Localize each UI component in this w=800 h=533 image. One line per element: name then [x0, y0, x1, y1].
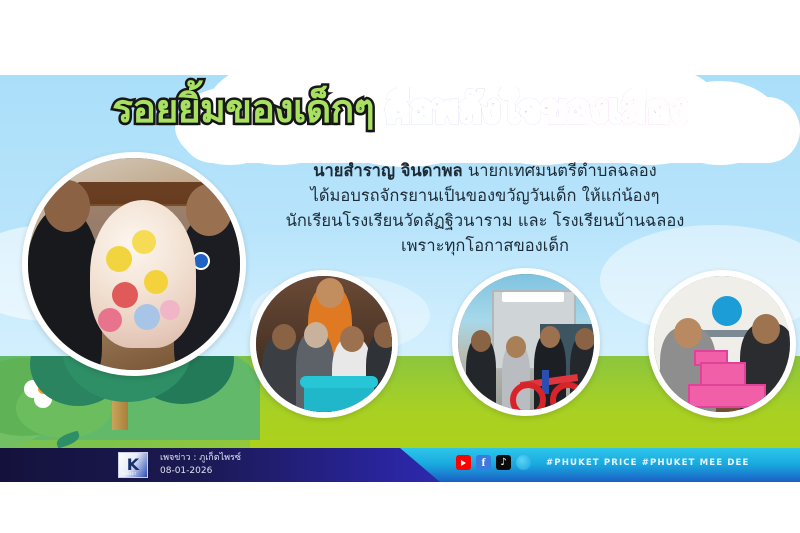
credit-label: เพจข่าว : ภูเก็ตไพรซ์: [160, 452, 241, 465]
footer-credit: เพจข่าว : ภูเก็ตไพรซ์ 08-01-2026: [160, 452, 241, 478]
person-head: [471, 330, 491, 352]
bicycle-group-photo: [452, 268, 600, 416]
hero-handover-photo: [22, 152, 246, 376]
poster-headline: รอยยิ้มของเด็กๆคือพลังใจของเมือง: [0, 90, 800, 129]
photo-content: [654, 276, 790, 412]
letterbox-bottom: [0, 482, 800, 533]
person-head: [506, 336, 526, 358]
pink-gifts-photo: [648, 270, 796, 418]
gift-item: [134, 304, 160, 330]
social-links: f ♪: [456, 455, 531, 470]
letterbox-top: [0, 0, 800, 75]
gift-item: [132, 230, 156, 254]
play-triangle: [461, 460, 466, 466]
headline-part-two: คือพลังใจของเมือง: [384, 87, 688, 132]
headline-part-one: รอยยิ้มของเด็กๆ: [112, 87, 374, 132]
gift-item: [98, 308, 122, 332]
body-line-3: นักเรียนโรงเรียนวัดลัฏฐิวนาราม และ โรงเร…: [170, 208, 800, 233]
person-left-head: [44, 180, 90, 232]
person-head: [540, 326, 560, 348]
gift-item: [144, 270, 168, 294]
photo-content: [28, 158, 240, 370]
person-head: [575, 328, 595, 350]
youtube-icon[interactable]: [456, 455, 471, 470]
publisher-logo-subtext: PHUKET: [122, 473, 137, 476]
gift-item: [112, 282, 138, 308]
poster-canvas: รอยยิ้มของเด็กๆคือพลังใจของเมือง นายสำรา…: [0, 0, 800, 533]
monk-group-photo: [250, 270, 398, 418]
gift-item: [106, 246, 132, 272]
publisher-logo-letter: K: [127, 457, 139, 473]
person-head: [752, 314, 780, 344]
publisher-logo[interactable]: K PHUKET: [118, 452, 148, 478]
publish-date: 08-01-2026: [160, 465, 241, 478]
person-head: [374, 322, 398, 348]
photo-content: [458, 274, 594, 410]
gift-box: [688, 384, 766, 408]
monk-head: [316, 278, 344, 308]
person-head: [272, 324, 296, 350]
gift-box: [700, 362, 746, 386]
line-icon[interactable]: [516, 455, 531, 470]
body-line-2: ได้มอบรถจักรยานเป็นของขวัญวันเด็ก ให้แก่…: [170, 183, 800, 208]
tiktok-icon[interactable]: ♪: [496, 455, 511, 470]
bicycle-wheel: [510, 382, 546, 416]
poster-body-text: นายสำราญ จินดาพล นายกเทศมนตรีตำบลฉลอง ได…: [170, 158, 800, 258]
person-head: [340, 326, 364, 352]
body-line-1: นายสำราญ จินดาพล นายกเทศมนตรีตำบลฉลอง: [170, 158, 800, 183]
body-line-4: เพราะทุกโอกาสของเด็ก: [170, 233, 800, 258]
footer-hashtags: #PHUKET PRICE #PHUKET MEE DEE: [546, 458, 749, 468]
basket-rim: [300, 376, 378, 388]
gift-item: [160, 300, 180, 320]
wall-logo: [712, 296, 742, 326]
person-head: [674, 318, 702, 348]
mayor-name: นายสำราญ จินดาพล: [313, 161, 462, 180]
person-head: [304, 322, 328, 348]
facebook-icon[interactable]: f: [476, 455, 491, 470]
photo-content: [256, 276, 392, 412]
building-sign: [502, 292, 564, 302]
person-right-head: [186, 184, 232, 236]
mayor-title: นายกเทศมนตรีตำบลฉลอง: [463, 161, 657, 180]
